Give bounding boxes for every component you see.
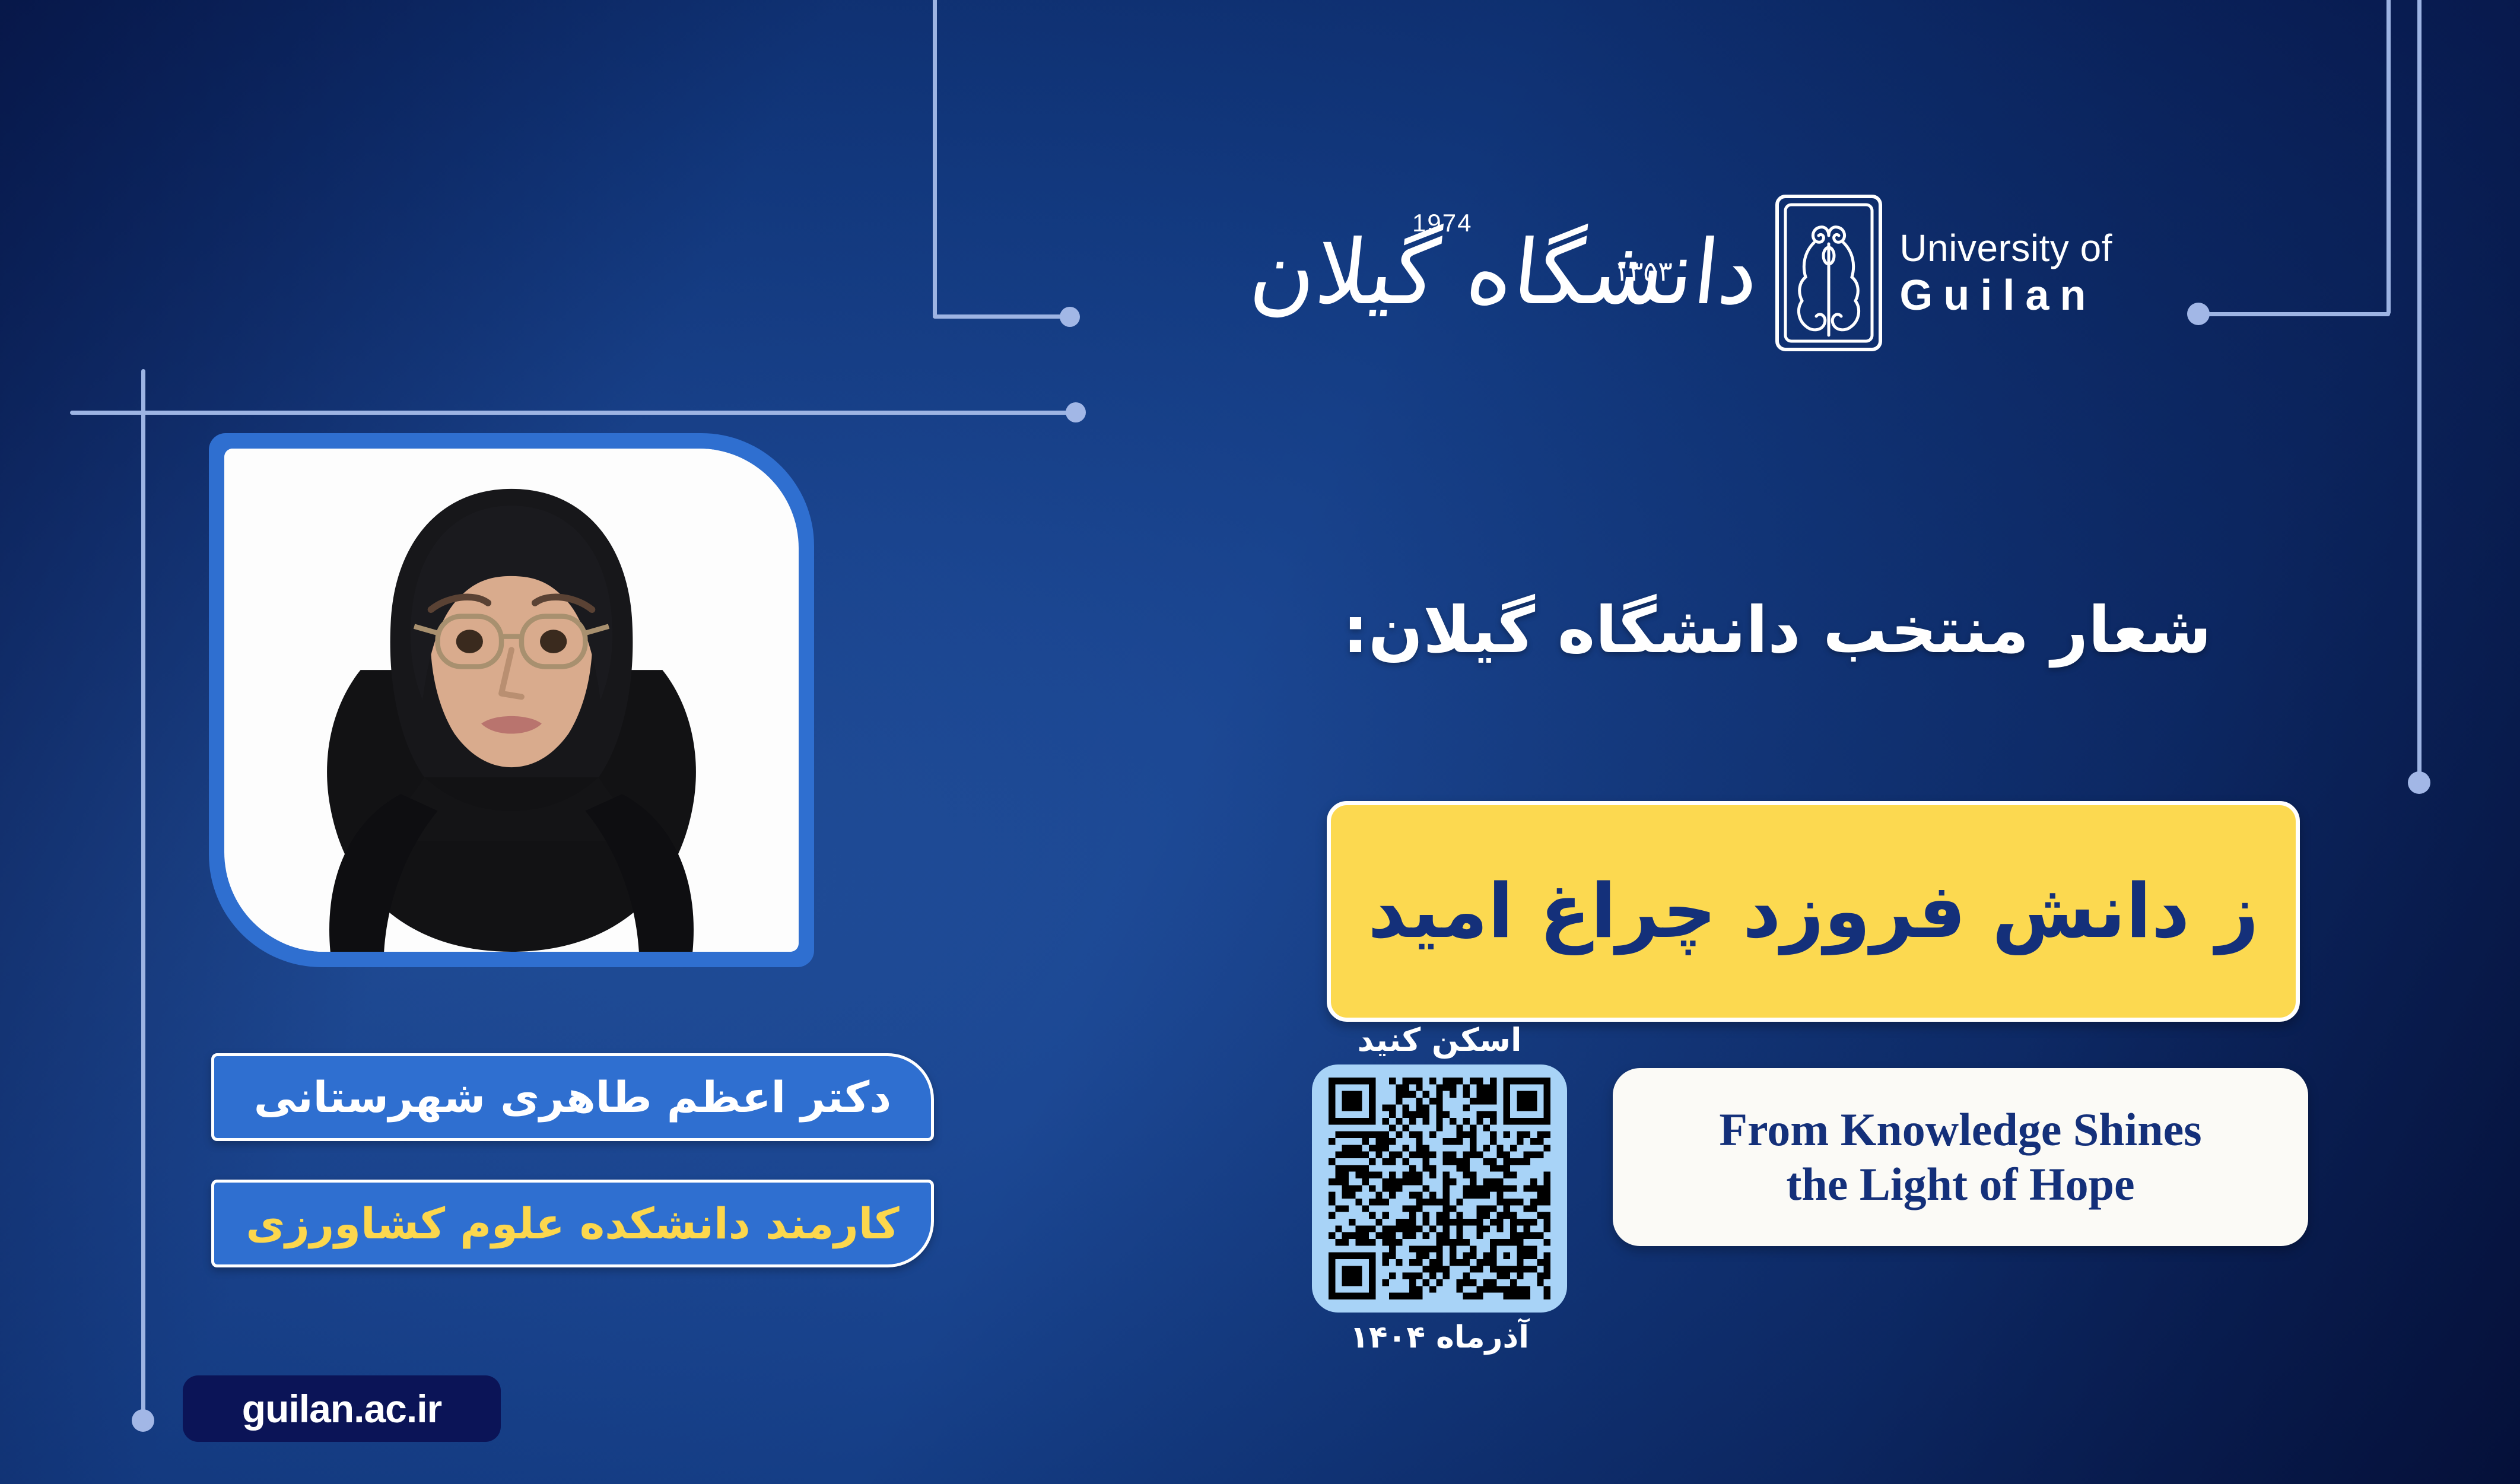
logo-line-university-of: University of	[1899, 229, 2112, 267]
person-name-label: دکتر اعظم طاهری شهرستانی	[254, 1076, 891, 1118]
slogan-text-english-line1: From Knowledge Shines	[1719, 1102, 2201, 1157]
logo-line-guilan: Guilan	[1899, 274, 2112, 317]
decor-line-top-left-vertical	[933, 0, 937, 317]
portrait-illustration	[224, 449, 799, 952]
website-badge[interactable]: guilan.ac.ir	[183, 1375, 501, 1442]
logo-english-name: University of Guilan	[1899, 229, 2112, 317]
slogan-heading: شعار منتخب دانشگاه گیلان:	[1343, 593, 2211, 668]
decor-dot-top-left	[1060, 307, 1080, 327]
qr-block: اسکن کنید آذرماه ۱۴۰۴	[1303, 1024, 1576, 1404]
slogan-text-persian: ز دانش فروزد چراغ امید	[1368, 874, 2259, 949]
qr-card[interactable]	[1312, 1064, 1567, 1313]
decor-dot-left-vertical-end	[132, 1409, 154, 1432]
qr-caption-label: اسکن کنید	[1357, 1024, 1521, 1056]
decor-line-left-horizontal	[70, 411, 1079, 415]
logo-persian-name: دانشگاه گیلان	[1246, 228, 1763, 317]
decor-line-top-right-vertical	[2386, 0, 2391, 314]
slogan-box: ز دانش فروزد چراغ امید	[1327, 801, 2300, 1022]
qr-date-label: آذرماه ۱۴۰۴	[1350, 1322, 1529, 1353]
person-role-label: کارمند دانشکده علوم کشاورزی	[246, 1202, 899, 1245]
person-name-banner: دکتر اعظم طاهری شهرستانی	[211, 1053, 934, 1141]
decor-line-top-right-horizontal	[2199, 312, 2390, 316]
decor-dot-left-horizontal-end	[1066, 402, 1086, 422]
slogan-text-english-line2: the Light of Hope	[1786, 1157, 2134, 1212]
decor-line-left-vertical	[141, 369, 145, 1419]
portrait-frame	[209, 433, 814, 967]
website-url-label: guilan.ac.ir	[242, 1386, 441, 1431]
decor-dot-top-right	[2187, 303, 2210, 325]
logo-year-gregorian: 1974	[1412, 209, 1472, 237]
poster-canvas: University of Guilan دانشگاه گیلان 1974 …	[0, 0, 2520, 1484]
person-role-banner: کارمند دانشکده علوم کشاورزی	[211, 1180, 934, 1267]
qr-code-icon	[1329, 1078, 1550, 1299]
guilan-emblem-icon	[1774, 193, 1884, 353]
decor-dot-right-vertical-end	[2408, 771, 2430, 794]
decor-line-right-vertical	[2417, 0, 2422, 782]
slogan-box-english: From Knowledge Shines the Light of Hope	[1613, 1068, 2308, 1246]
portrait-photo	[224, 449, 799, 952]
logo-year-persian: ۱۳۵۳	[1614, 255, 1673, 287]
decor-line-top-left-horizontal	[933, 314, 1069, 319]
